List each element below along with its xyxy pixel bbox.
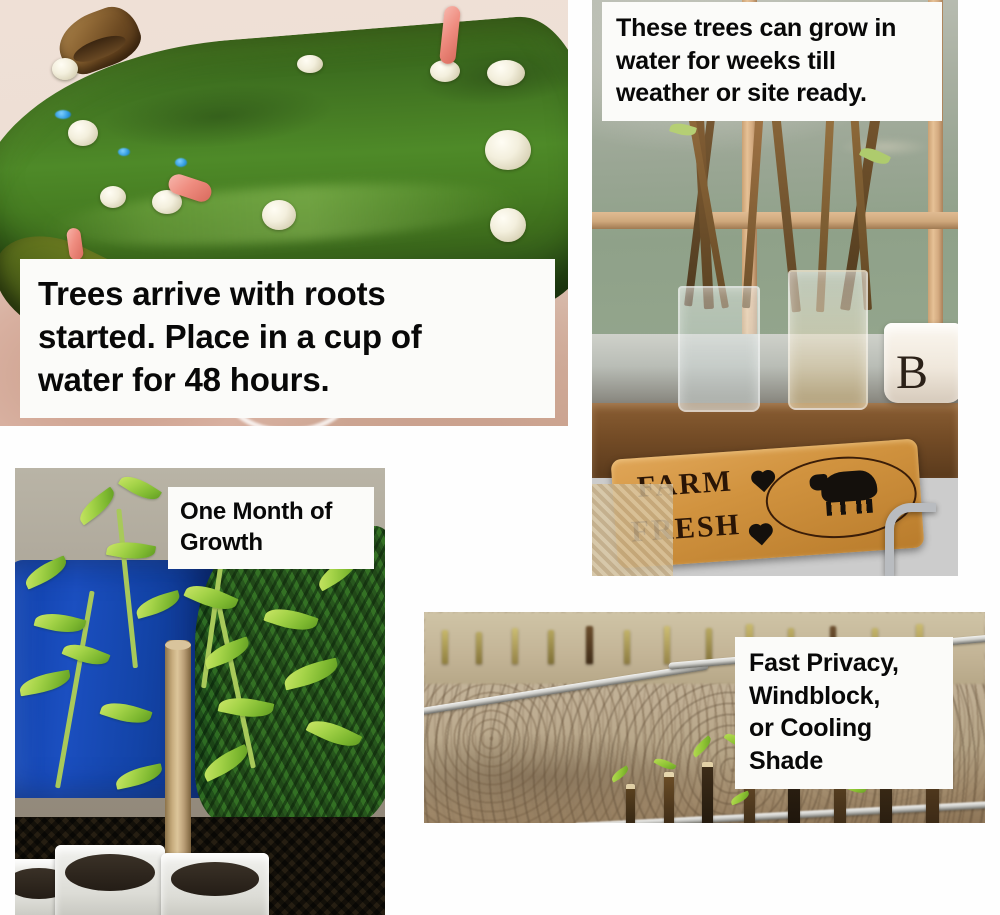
- background-cutting: [624, 630, 630, 664]
- caption-fast-privacy: Fast Privacy, Windblock, or Cooling Shad…: [735, 637, 953, 789]
- root-callus-node: [52, 58, 78, 80]
- planted-cutting: [664, 772, 674, 823]
- plant-pot: [55, 845, 165, 915]
- root-callus-node: [262, 200, 296, 230]
- water-droplet: [175, 158, 187, 167]
- drinking-glass-left: [678, 286, 760, 412]
- background-cutting: [476, 632, 482, 664]
- collage-canvas: B FARM FRESH: [0, 0, 1000, 915]
- background-cutting: [442, 630, 448, 664]
- root-callus-node: [490, 208, 526, 242]
- root-callus-node: [68, 120, 98, 146]
- caption-grow-in-water: These trees can grow in water for weeks …: [602, 2, 942, 121]
- water-droplet: [118, 148, 130, 156]
- planted-cutting: [626, 784, 635, 823]
- caption-trees-arrive: Trees arrive with roots started. Place i…: [20, 259, 555, 418]
- mug-letter: B: [896, 349, 928, 397]
- window-mullion-horizontal: [592, 212, 958, 229]
- caption-one-month-growth: One Month of Growth: [168, 487, 374, 569]
- plant-pot: [161, 853, 269, 915]
- background-cutting: [586, 626, 593, 664]
- coffee-mug: B: [884, 323, 958, 403]
- background-cutting: [548, 630, 554, 664]
- heart-icon: [752, 526, 772, 546]
- planted-cutting: [702, 762, 713, 823]
- drinking-glass-right: [788, 270, 868, 410]
- faucet-icon: [885, 503, 936, 576]
- root-callus-node: [485, 130, 531, 170]
- background-cutting: [664, 626, 670, 664]
- water-droplet: [55, 110, 71, 119]
- cow-icon: [820, 470, 878, 504]
- root-callus-node: [297, 55, 323, 73]
- lace-trim: [592, 484, 673, 576]
- root-callus-node: [100, 186, 126, 208]
- root-callus-node: [487, 60, 525, 86]
- background-cutting: [512, 628, 518, 664]
